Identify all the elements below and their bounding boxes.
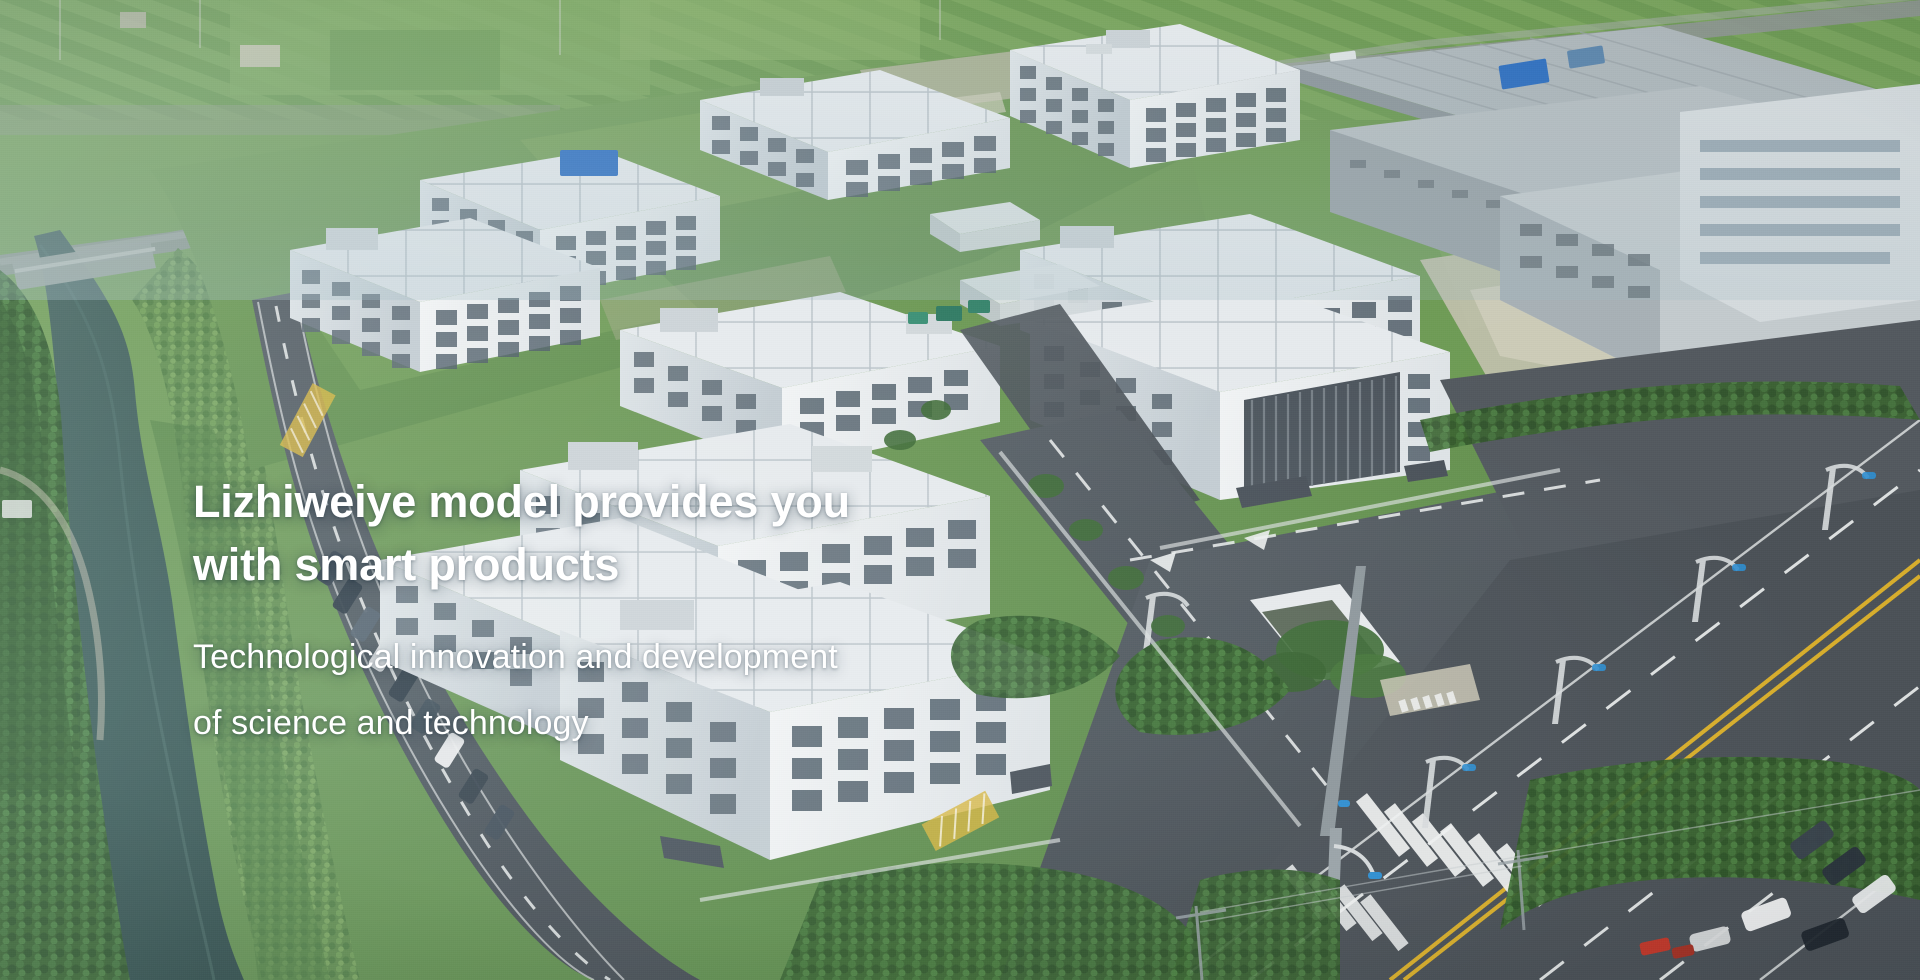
hero-banner: Lizhiweiye model provides you with smart… xyxy=(0,0,1920,980)
hero-copy: Lizhiweiye model provides you with smart… xyxy=(193,470,1293,756)
hero-headline: Lizhiweiye model provides you with smart… xyxy=(193,470,1293,596)
hero-subheadline: Technological innovation and development… xyxy=(193,624,1293,756)
